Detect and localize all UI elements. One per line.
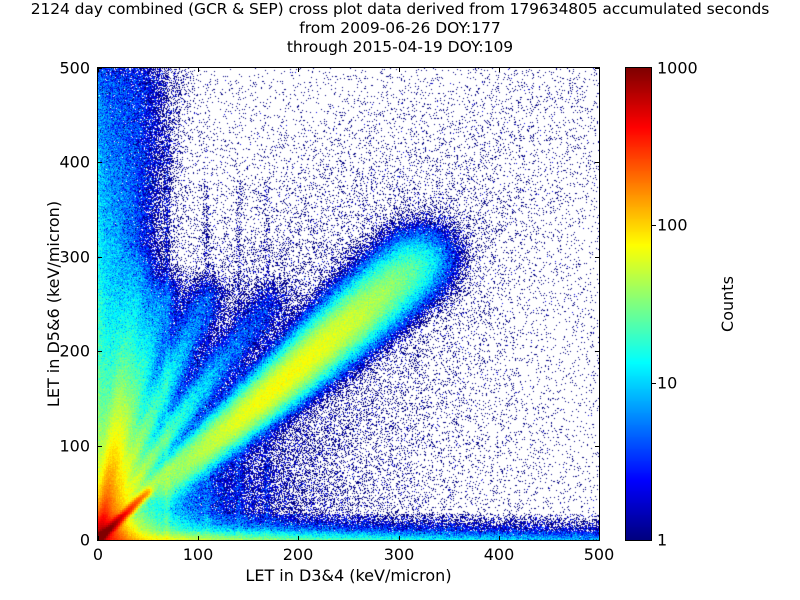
x-tick-mark-top xyxy=(298,68,299,72)
y-tick-mark xyxy=(98,446,102,447)
x-tick-label: 100 xyxy=(183,545,214,564)
density-plot-figure: 2124 day combined (GCR & SEP) cross plot… xyxy=(0,0,800,600)
y-axis-label: LET in D5&6 (keV/micron) xyxy=(44,67,63,541)
y-tick-mark xyxy=(98,351,102,352)
x-tick-mark-top xyxy=(499,68,500,72)
figure-title-line-1: 2124 day combined (GCR & SEP) cross plot… xyxy=(0,0,800,19)
x-tick-label: 0 xyxy=(93,545,103,564)
x-tick-mark-top xyxy=(198,68,199,72)
x-tick-label: 500 xyxy=(584,545,615,564)
x-tick-mark xyxy=(499,536,500,540)
y-tick-mark-right xyxy=(595,68,599,69)
x-tick-mark-top xyxy=(399,68,400,72)
colorbar-tick-label: 100 xyxy=(657,216,688,235)
x-tick-label: 300 xyxy=(384,545,415,564)
y-tick-mark-right xyxy=(595,351,599,352)
y-tick-mark-right xyxy=(595,162,599,163)
colorbar-tick-label: 1000 xyxy=(657,59,698,78)
figure-title: 2124 day combined (GCR & SEP) cross plot… xyxy=(0,0,800,57)
y-tick-mark xyxy=(98,540,102,541)
colorbar-tick-mark xyxy=(652,225,656,226)
y-tick-mark xyxy=(98,257,102,258)
y-tick-mark-right xyxy=(595,540,599,541)
colorbar xyxy=(625,67,652,541)
x-tick-label: 400 xyxy=(484,545,515,564)
colorbar-canvas xyxy=(626,68,651,540)
y-tick-mark xyxy=(98,68,102,69)
colorbar-tick-label: 1 xyxy=(657,531,667,550)
x-tick-mark xyxy=(599,536,600,540)
y-tick-mark-right xyxy=(595,257,599,258)
x-tick-mark-top xyxy=(599,68,600,72)
colorbar-tick-mark xyxy=(652,383,656,384)
plot-axes xyxy=(97,67,600,541)
y-tick-mark-right xyxy=(595,446,599,447)
x-tick-label: 200 xyxy=(283,545,314,564)
colorbar-label: Counts xyxy=(718,67,737,541)
x-tick-mark xyxy=(298,536,299,540)
y-tick-mark xyxy=(98,162,102,163)
x-tick-mark xyxy=(399,536,400,540)
x-axis-label: LET in D3&4 (keV/micron) xyxy=(97,566,600,585)
figure-title-line-2: from 2009-06-26 DOY:177 xyxy=(0,19,800,38)
density-heatmap-canvas xyxy=(98,68,599,540)
x-tick-mark xyxy=(198,536,199,540)
figure-title-line-3: through 2015-04-19 DOY:109 xyxy=(0,38,800,57)
colorbar-tick-label: 10 xyxy=(657,374,677,393)
